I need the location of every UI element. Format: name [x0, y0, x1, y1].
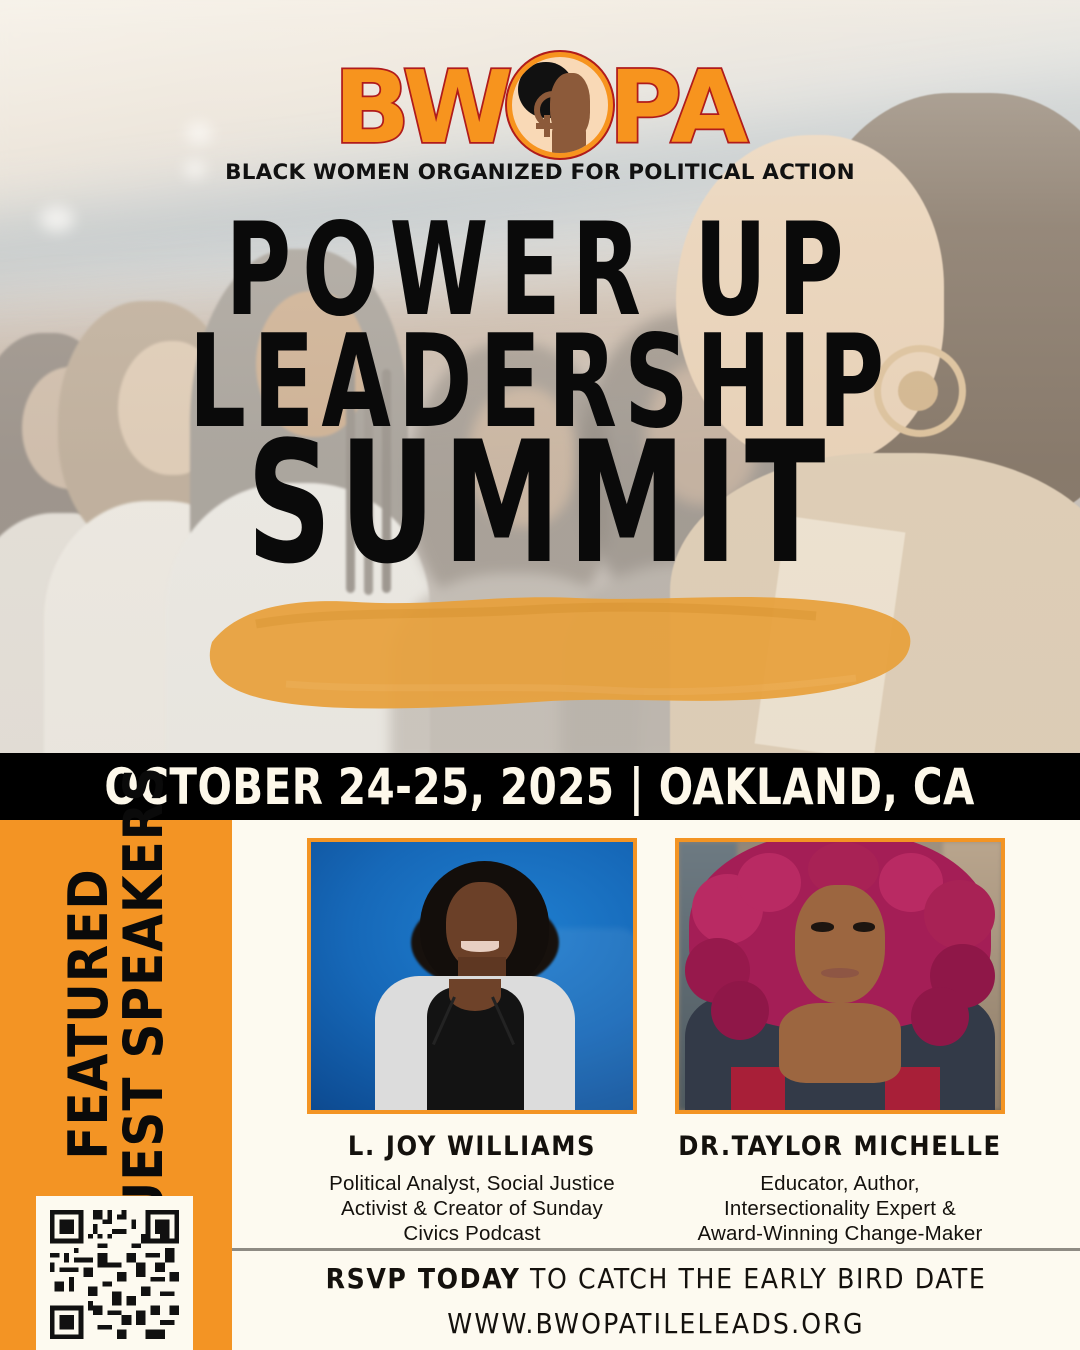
- speaker-card: L. JOY WILLIAMS Political Analyst, Socia…: [307, 838, 637, 1246]
- speaker-bio-line: Educator, Author,: [675, 1171, 1005, 1196]
- speaker-bio: Political Analyst, Social Justice Activi…: [307, 1171, 637, 1246]
- speaker-bio-line: Award-Winning Change-Maker: [675, 1221, 1005, 1246]
- title-line-3: SUMMIT: [119, 426, 961, 581]
- speaker-photo-frame: [675, 838, 1005, 1114]
- hero-section: BW PA BLACK WOMEN ORGANIZED FOR POLITICA…: [0, 0, 1080, 753]
- event-poster: BW PA BLACK WOMEN ORGANIZED FOR POLITICA…: [0, 0, 1080, 1350]
- logo-letters-after: PA: [609, 58, 747, 158]
- rsvp-line: RSVP TODAY TO CATCH THE EARLY BIRD DATE: [232, 1262, 1080, 1295]
- bwopa-logo: BW PA BLACK WOMEN ORGANIZED FOR POLITICA…: [0, 52, 1080, 185]
- speaker-photo-frame: [307, 838, 637, 1114]
- woman-profile-venus-symbol-icon: [507, 52, 613, 158]
- rsvp-rest-text: TO CATCH THE EARLY BIRD DATE: [520, 1262, 986, 1295]
- sidebar-label-line-2: GUEST SPEAKERS: [116, 766, 171, 1262]
- speaker-bio: Educator, Author, Intersectionality Expe…: [675, 1171, 1005, 1246]
- speaker-bio-line: Political Analyst, Social Justice: [307, 1171, 637, 1196]
- speaker-name: L. JOY WILLIAMS: [307, 1131, 637, 1162]
- logo-wordmark: BW PA: [334, 52, 747, 158]
- speaker-name: DR.TAYLOR MICHELLE: [675, 1131, 1005, 1162]
- speaker-card: DR.TAYLOR MICHELLE Educator, Author, Int…: [675, 838, 1005, 1246]
- sidebar-label-line-1: FEATURED: [61, 766, 116, 1262]
- rsvp-bold-text: RSVP TODAY: [326, 1262, 521, 1295]
- featured-speakers-sidebar: FEATURED GUEST SPEAKERS: [0, 820, 232, 1350]
- website-url[interactable]: WWW.BWOPATILELEADS.ORG: [232, 1307, 1080, 1340]
- page-title: POWER UP LEADERSHIP SUMMIT: [0, 212, 1080, 580]
- logo-tagline: BLACK WOMEN ORGANIZED FOR POLITICAL ACTI…: [0, 160, 1080, 185]
- date-location-text: OCTOBER 24-25, 2025 | OAKLAND, CA: [105, 758, 975, 816]
- brush-stroke-accent: [196, 580, 920, 720]
- speaker-bio-line: Civics Podcast: [307, 1221, 637, 1246]
- speaker-bio-line: Intersectionality Expert &: [675, 1196, 1005, 1221]
- footer-divider: [232, 1248, 1080, 1251]
- qr-code-container[interactable]: [36, 1196, 193, 1350]
- speaker-bio-line: Activist & Creator of Sunday: [307, 1196, 637, 1221]
- footer: RSVP TODAY TO CATCH THE EARLY BIRD DATE …: [232, 1262, 1080, 1340]
- qr-code-icon[interactable]: [45, 1205, 184, 1344]
- logo-letters-before: BW: [334, 58, 511, 158]
- featured-speakers-label: FEATURED GUEST SPEAKERS: [61, 766, 171, 1262]
